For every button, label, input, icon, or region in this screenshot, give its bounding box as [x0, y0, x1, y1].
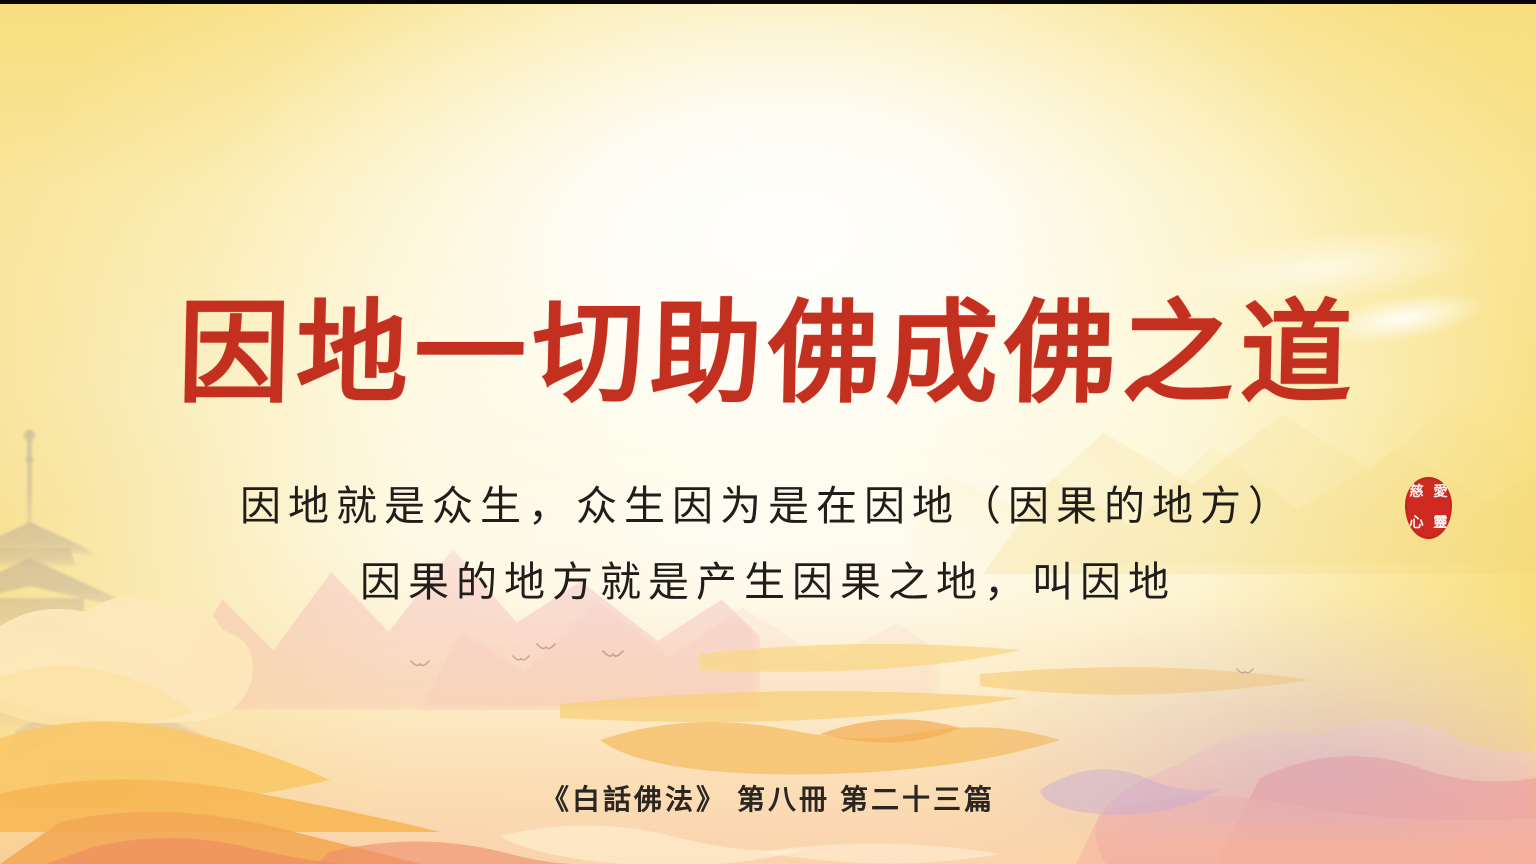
subtitle-line-1: 因地就是众生，众生因为是在因地（因果的地方） — [60, 468, 1476, 544]
slide-content: 因地一切助佛成佛之道 因地就是众生，众生因为是在因地（因果的地方） 因果的地方就… — [0, 0, 1536, 864]
red-oval-seal: 慈 愛 心 靈 — [1405, 477, 1452, 539]
seal-char-2: 愛 — [1433, 485, 1447, 499]
subtitle-line-2: 因果的地方就是产生因果之地，叫因地 — [60, 544, 1476, 620]
seal-char-3: 心 — [1410, 516, 1424, 530]
slide-title: 因地一切助佛成佛之道 — [0, 296, 1536, 415]
slide-subtitle: 因地就是众生，众生因为是在因地（因果的地方） 因果的地方就是产生因果之地，叫因地 — [60, 468, 1476, 620]
seal-char-1: 慈 — [1410, 485, 1424, 499]
source-citation: 《白話佛法》 第八冊 第二十三篇 — [0, 778, 1536, 818]
slide-canvas: 因地一切助佛成佛之道 因地就是众生，众生因为是在因地（因果的地方） 因果的地方就… — [0, 0, 1536, 864]
seal-char-4: 靈 — [1433, 516, 1447, 530]
